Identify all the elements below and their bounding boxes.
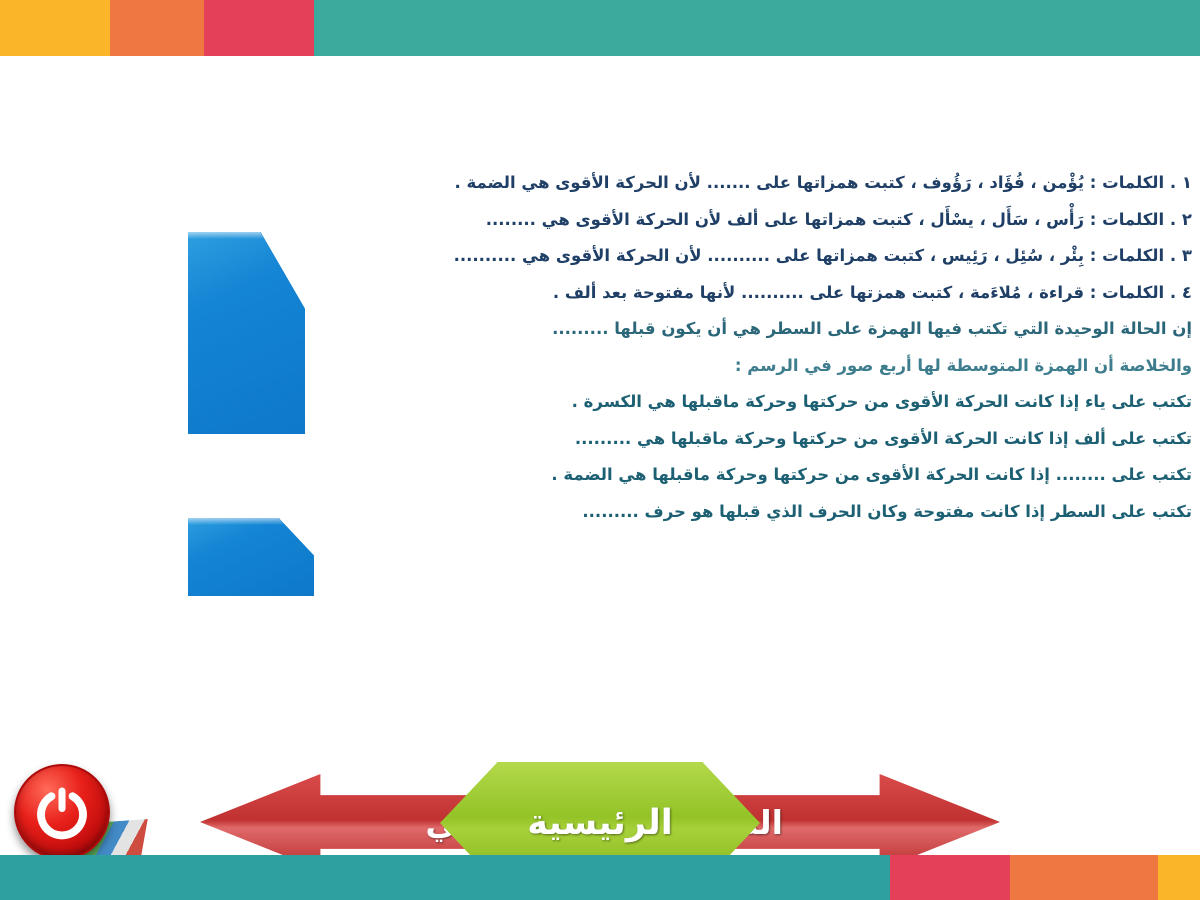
blue-snip-shape-large — [188, 232, 305, 434]
exercise-line-3: ٣ . الكلمات : بِئْر ، سُئِل ، رَئِيس ، ك… — [330, 248, 1192, 265]
home-button-label: الرئيسية — [527, 803, 672, 843]
summary-rule-2: تكتب على ألف إذا كانت الحركة الأقوى من ح… — [330, 431, 1192, 448]
bottom-band-segment-crimson — [890, 855, 1010, 900]
blue-shape-corner-fold — [260, 232, 305, 310]
exercise-line-5: إن الحالة الوحيدة التي تكتب فيها الهمزة … — [330, 321, 1192, 338]
power-icon — [34, 784, 90, 840]
blue-snip-shape-small — [188, 518, 314, 596]
summary-rule-3: تكتب على ........ إذا كانت الحركة الأقوى… — [330, 467, 1192, 484]
top-color-band — [0, 0, 1200, 56]
summary-heading: والخلاصة أن الهمزة المتوسطة لها أربع صور… — [330, 358, 1192, 375]
summary-rule-4: تكتب على السطر إذا كانت مفتوحة وكان الحر… — [330, 504, 1192, 521]
bottom-band-segment-teal — [0, 855, 890, 900]
power-exit-button[interactable] — [14, 764, 110, 860]
lesson-text-block: ١ . الكلمات : يُؤْمن ، فُؤَاد ، رَؤُوف ،… — [330, 175, 1192, 540]
top-band-segment-crimson — [204, 0, 314, 56]
exercise-line-4: ٤ . الكلمات : قراءة ، مُلاءَمة ، كتبت هم… — [330, 285, 1192, 302]
bottom-band-segment-amber — [1158, 855, 1200, 900]
top-band-segment-teal — [314, 0, 1200, 56]
exercise-line-1: ١ . الكلمات : يُؤْمن ، فُؤَاد ، رَؤُوف ،… — [330, 175, 1192, 192]
top-band-segment-amber — [0, 0, 110, 56]
bottom-band-segment-orange — [1010, 855, 1158, 900]
slide-canvas: ١ . الكلمات : يُؤْمن ، فُؤَاد ، رَؤُوف ،… — [0, 0, 1200, 900]
bottom-color-band — [0, 855, 1200, 900]
exercise-line-2: ٢ . الكلمات : رَأْس ، سَأَل ، يسْأَل ، ك… — [330, 212, 1192, 229]
summary-rule-1: تكتب على ياء إذا كانت الحركة الأقوى من ح… — [330, 394, 1192, 411]
blue-shape-corner-fold — [278, 518, 314, 556]
top-band-segment-orange — [110, 0, 204, 56]
